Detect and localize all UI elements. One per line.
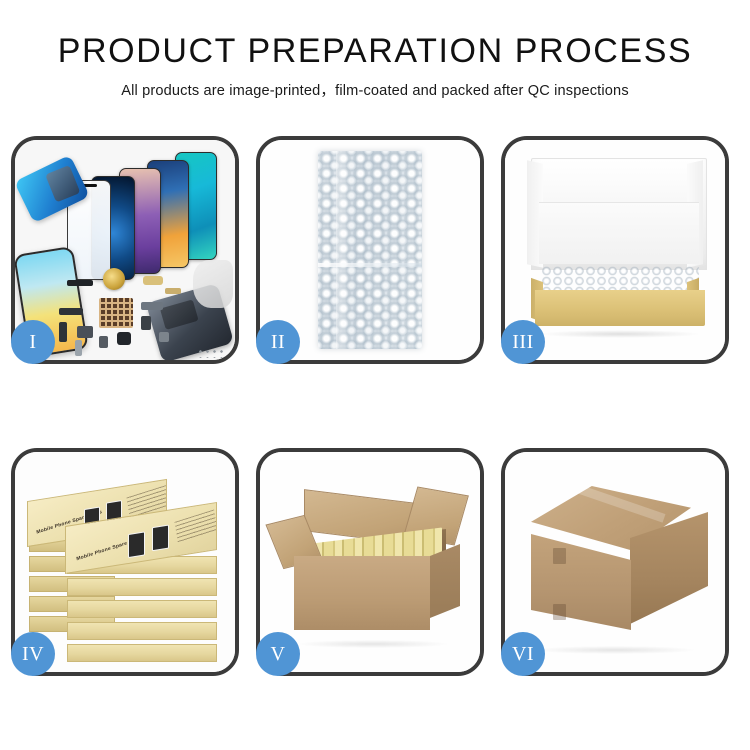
screw-grid-part <box>99 298 133 328</box>
step-badge-2: II <box>256 320 300 364</box>
process-step-panel-5: V <box>256 448 484 676</box>
step-badge-3: III <box>501 320 545 364</box>
phone-display-fan-icon <box>67 150 235 275</box>
page-title: PRODUCT PREPARATION PROCESS <box>0 34 750 70</box>
stacked-box <box>67 644 217 662</box>
infographic-page: PRODUCT PREPARATION PROCESS All products… <box>0 0 750 750</box>
stacked-box <box>67 600 217 618</box>
spare-part <box>159 332 169 342</box>
hand-holding-part <box>193 260 233 308</box>
box-shadow <box>539 330 701 338</box>
carton-side-panel <box>430 544 460 618</box>
process-step-panel-3: III <box>501 136 729 364</box>
foam-lining <box>539 202 699 264</box>
box-front-panel <box>535 290 705 326</box>
carton-hand-hole <box>553 604 566 620</box>
spare-part <box>165 288 181 294</box>
spare-part <box>117 332 131 345</box>
box-lid-text-lines <box>175 509 217 543</box>
stacked-box <box>67 578 217 596</box>
step-badge-6: VI <box>501 632 545 676</box>
box-lid-phone-image <box>128 531 145 558</box>
process-step-panel-2: II <box>256 136 484 364</box>
process-step-panel-4: Mobile Phone Spare Parts Mobile Phone Sp… <box>11 448 239 676</box>
box-lid-phone-image <box>152 525 169 552</box>
header: PRODUCT PREPARATION PROCESS All products… <box>0 0 750 100</box>
pouch-seam <box>318 263 422 267</box>
spare-part <box>141 316 151 330</box>
speaker-coil-part <box>103 268 125 290</box>
stacked-box <box>67 622 217 640</box>
process-step-panel-1: I <box>11 136 239 364</box>
carton-shadow <box>298 640 448 648</box>
spare-part <box>59 308 83 315</box>
spare-part <box>75 340 82 356</box>
page-subtitle: All products are image-printed，film-coat… <box>0 79 750 100</box>
spare-part <box>143 276 163 285</box>
step-badge-4: IV <box>11 632 55 676</box>
spare-part <box>67 280 93 286</box>
spare-part <box>59 322 67 342</box>
carton-front-panel <box>294 556 430 630</box>
pouch-sheen <box>336 151 352 349</box>
screws-group <box>197 348 227 358</box>
step-badge-5: V <box>256 632 300 676</box>
carton-hand-hole <box>553 548 566 564</box>
step-badge-1: I <box>11 320 55 364</box>
carton-front-face <box>531 534 631 630</box>
process-step-panel-6: VI <box>501 448 729 676</box>
spare-part <box>77 326 93 338</box>
process-step-grid: I II <box>11 136 739 676</box>
bubble-wrap-pouch <box>318 151 422 349</box>
spare-part <box>99 336 108 348</box>
carton-shadow <box>535 646 695 654</box>
spare-part <box>141 302 163 310</box>
